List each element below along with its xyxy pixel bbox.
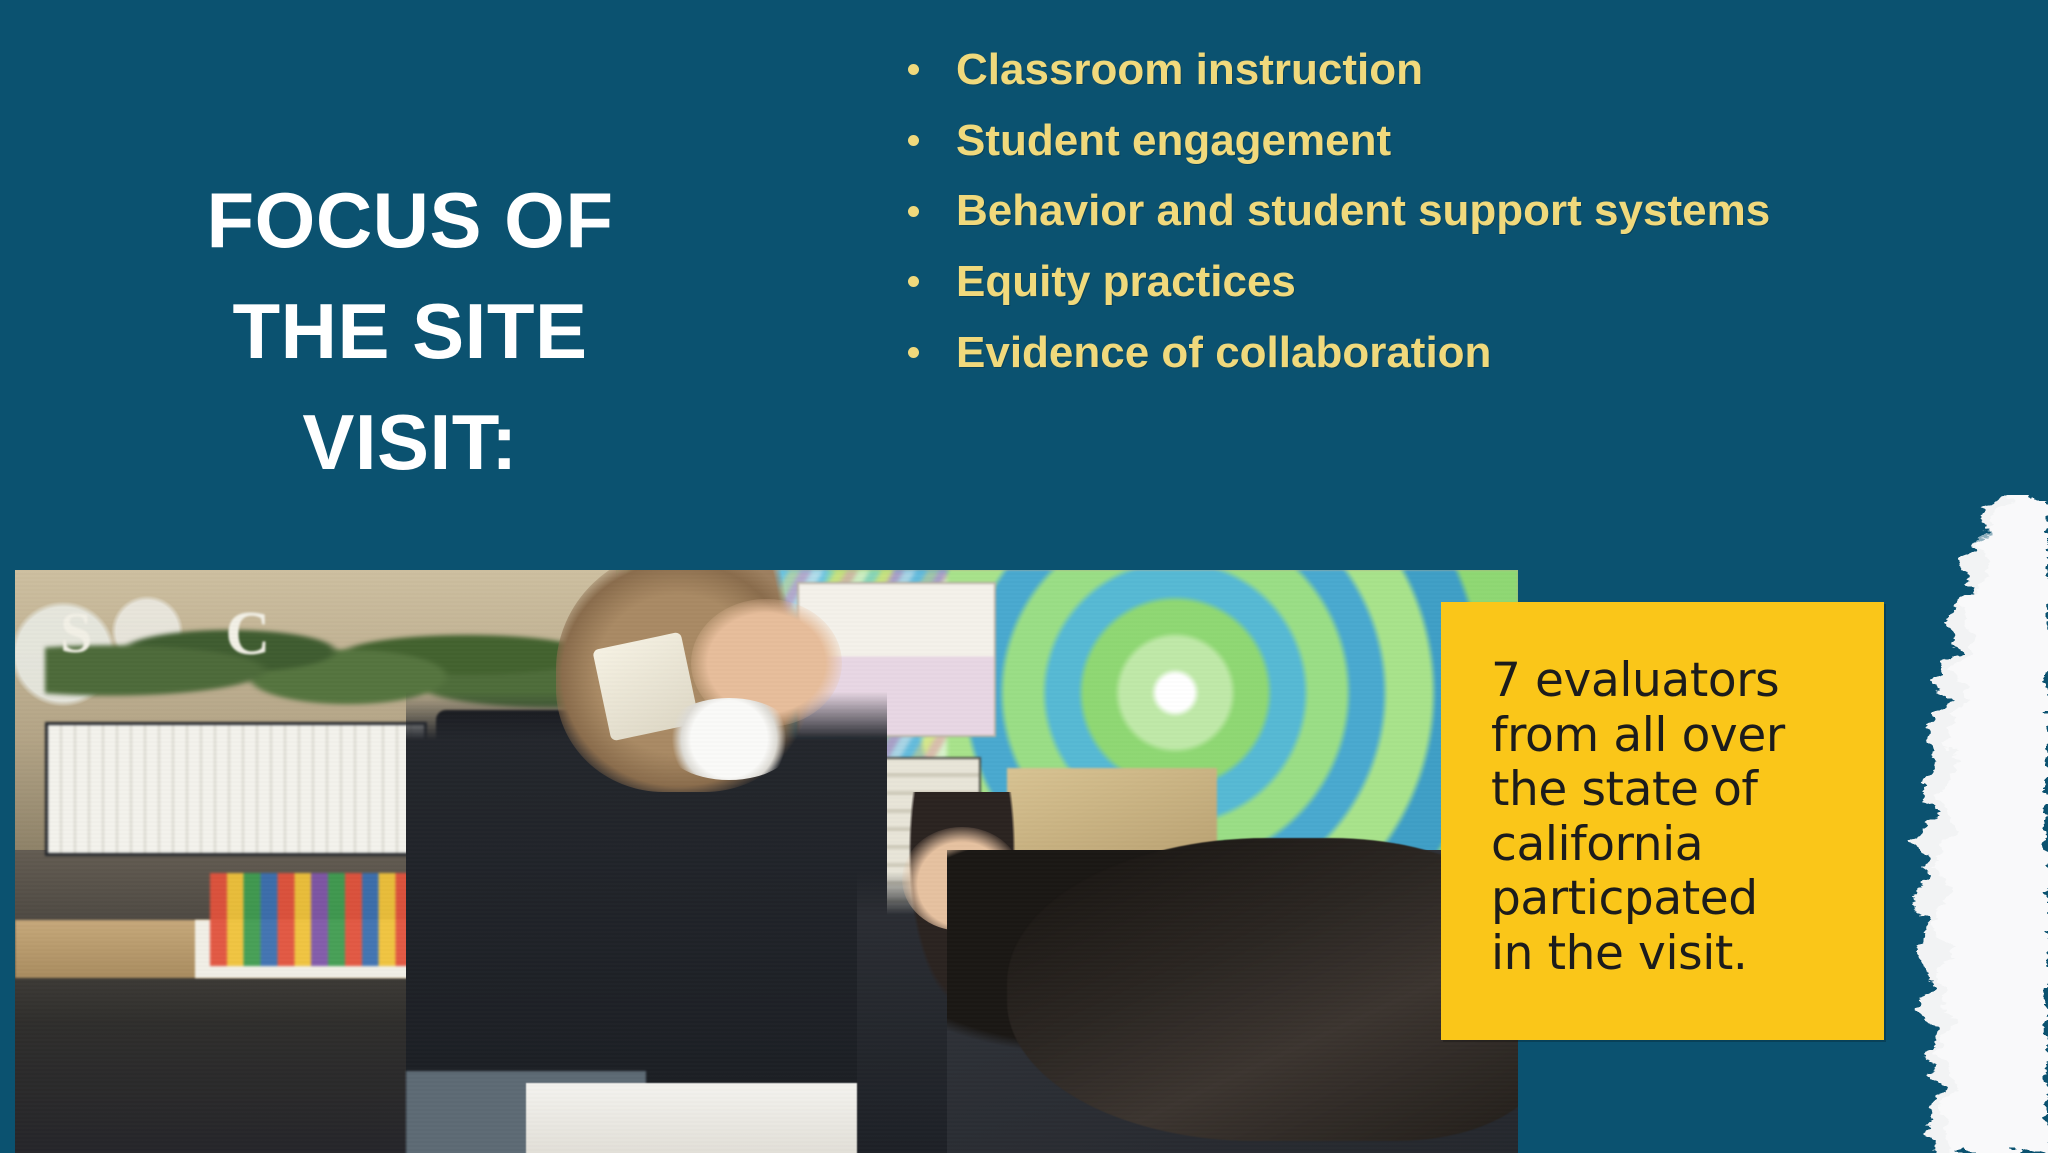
photo-wall-letter-c: C xyxy=(225,599,270,670)
bullet-dot-icon xyxy=(908,135,919,146)
list-item-label: Behavior and student support systems xyxy=(956,186,1770,235)
photo-wall-worksheets xyxy=(45,722,427,856)
photo-wall-letter-s: S xyxy=(60,599,92,666)
classroom-photo: S C xyxy=(15,570,1518,1153)
list-item-label: Evidence of collaboration xyxy=(956,328,1491,377)
evaluators-callout-box: 7 evaluators from all over the state of … xyxy=(1441,602,1884,1040)
page-title: FOCUS OF THE SITE VISIT: xyxy=(120,165,700,497)
bullet-dot-icon xyxy=(908,347,919,358)
photo-headphones-cup xyxy=(661,698,796,780)
photo-scene: S C xyxy=(15,570,1518,1153)
list-item-label: Student engagement xyxy=(956,116,1391,165)
list-item: Student engagement xyxy=(900,109,1920,174)
list-item: Evidence of collaboration xyxy=(900,321,1920,386)
list-item: Equity practices xyxy=(900,250,1920,315)
photo-worksheet-on-table xyxy=(526,1083,857,1153)
list-item: Behavior and student support systems xyxy=(900,179,1920,244)
bullet-dot-icon xyxy=(908,276,919,287)
bullet-dot-icon xyxy=(908,206,919,217)
bullet-dot-icon xyxy=(908,64,919,75)
evaluators-callout-text: 7 evaluators from all over the state of … xyxy=(1491,654,1871,981)
focus-bullet-list: Classroom instruction Student engagement… xyxy=(900,38,1920,391)
list-item-label: Equity practices xyxy=(956,257,1296,306)
list-item-label: Classroom instruction xyxy=(956,45,1423,94)
slide-canvas: FOCUS OF THE SITE VISIT: Classroom instr… xyxy=(0,0,2048,1153)
list-item: Classroom instruction xyxy=(900,38,1920,103)
